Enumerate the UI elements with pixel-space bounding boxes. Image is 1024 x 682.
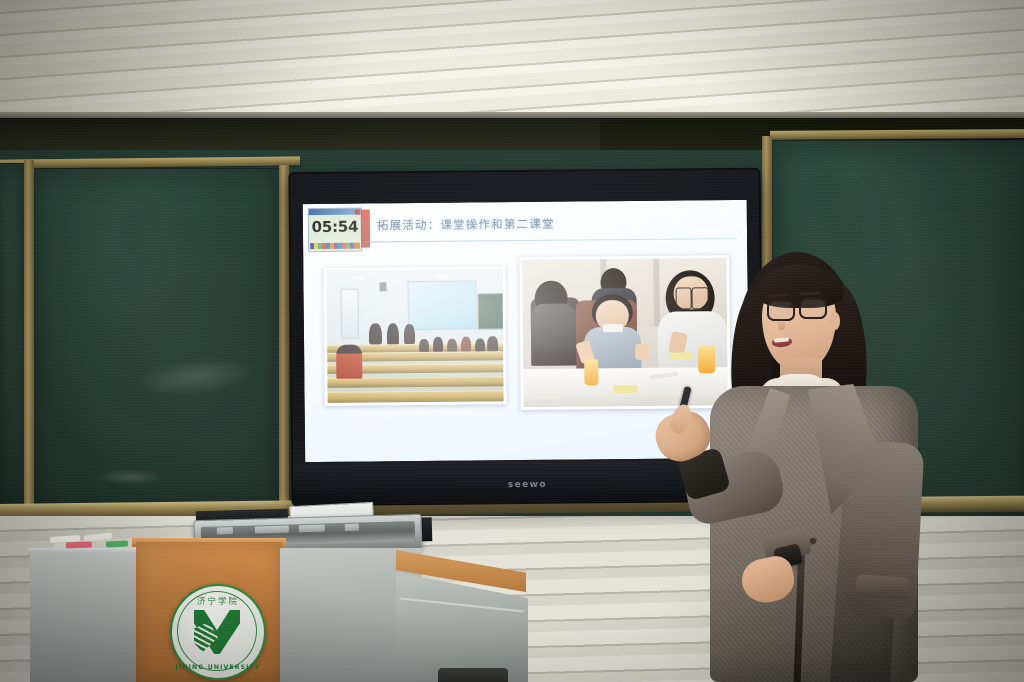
timer-titlebar bbox=[309, 209, 361, 215]
chalkboard-rail-right bbox=[770, 129, 1024, 140]
standing-person bbox=[387, 323, 400, 346]
emblem-chinese-name: 济宁学院 bbox=[172, 595, 264, 607]
wall-speaker bbox=[379, 282, 386, 291]
lectern: 济宁学院 JINING UNIVERSITY bbox=[18, 508, 548, 682]
standing-person bbox=[369, 323, 382, 344]
university-emblem: 济宁学院 JINING UNIVERSITY bbox=[170, 584, 266, 680]
slide-title-underline bbox=[365, 238, 737, 243]
chalk-smudge bbox=[133, 353, 256, 401]
presenter bbox=[680, 246, 938, 682]
slide-title: 拓展活动：课堂操作和第二课堂 bbox=[377, 216, 555, 234]
hall-chalkboard bbox=[478, 293, 507, 330]
child-hand bbox=[635, 344, 649, 360]
tray-control-knob[interactable] bbox=[217, 527, 233, 534]
chalk-piece-green bbox=[106, 540, 128, 547]
lecture-hall-image bbox=[326, 269, 503, 403]
coat-cuff-right bbox=[855, 574, 908, 600]
chalk-smudge bbox=[95, 469, 165, 485]
presenter-nose bbox=[778, 318, 785, 330]
timer-progress-strip bbox=[310, 243, 360, 249]
glasses-icon bbox=[799, 298, 827, 319]
background-diner-body bbox=[531, 304, 576, 351]
tray-control-panel[interactable] bbox=[255, 526, 289, 534]
seewo-logo: seewo bbox=[508, 480, 547, 490]
standing-person bbox=[404, 324, 415, 344]
close-icon[interactable] bbox=[355, 209, 360, 214]
ceiling-shading bbox=[0, 0, 1024, 118]
seated-student bbox=[487, 337, 498, 352]
lectern-front-panel: 济宁学院 JINING UNIVERSITY bbox=[136, 542, 282, 682]
seated-student bbox=[447, 338, 458, 351]
chair-behind-lectern bbox=[438, 668, 508, 682]
chalk-piece-pink bbox=[66, 542, 92, 549]
timer-value: 05:54 bbox=[309, 216, 361, 238]
tray-control-panel[interactable] bbox=[299, 525, 325, 533]
projection-screen bbox=[407, 280, 476, 330]
seated-student-foreground bbox=[336, 344, 363, 379]
seated-student bbox=[419, 339, 430, 352]
seated-student bbox=[433, 337, 444, 352]
presenter-ear bbox=[830, 312, 840, 330]
classroom-photo-scene: 05:54 拓展活动：课堂操作和第二课堂 bbox=[0, 0, 1024, 682]
chalkboard-divider bbox=[24, 160, 34, 510]
lecture-hall-photo bbox=[323, 266, 506, 406]
plate-food bbox=[613, 385, 638, 393]
tray-control-knob[interactable] bbox=[345, 524, 359, 531]
chalkboard-divider bbox=[279, 165, 289, 510]
lectern-left-side bbox=[30, 552, 138, 682]
desk-row bbox=[328, 391, 504, 404]
child-collar bbox=[602, 324, 622, 333]
wall-column bbox=[653, 259, 660, 327]
seated-student bbox=[461, 337, 472, 352]
hall-door bbox=[341, 289, 359, 339]
seated-student bbox=[475, 338, 486, 351]
juice-glass bbox=[584, 359, 599, 386]
chalkboard-panel-left bbox=[34, 168, 282, 508]
ceiling-light bbox=[351, 276, 365, 280]
glasses-bridge bbox=[790, 305, 800, 307]
coat-button bbox=[810, 538, 816, 544]
chalk-piece-white bbox=[84, 533, 112, 542]
ceiling-light bbox=[436, 275, 450, 279]
countdown-timer-widget[interactable]: 05:54 bbox=[308, 208, 362, 253]
emblem-english-name: JINING UNIVERSITY bbox=[172, 664, 264, 671]
